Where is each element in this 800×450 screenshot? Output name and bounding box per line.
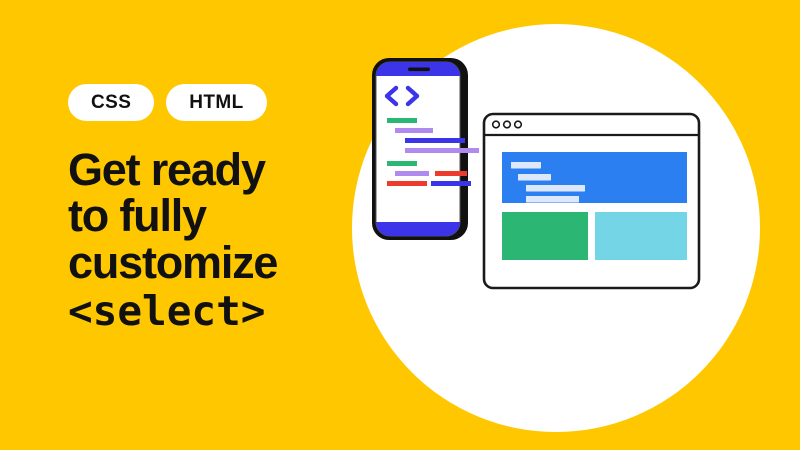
headline-line-2: to fully [68,193,368,239]
badge-css[interactable]: CSS [68,84,154,121]
phone-mockup [372,58,479,240]
browser-dot-close[interactable] [493,121,500,128]
page-title: Get ready to fully customize <select> [68,147,368,332]
hero-text-bar [518,174,551,181]
badge-row: CSS HTML [68,84,368,121]
left-content-column: CSS HTML Get ready to fully customize <s… [68,84,368,332]
code-line [431,181,471,186]
hero-text-bar [511,162,541,169]
code-line [395,171,429,176]
card-green [502,212,588,260]
hero-text-bar [526,185,585,192]
hero-text-bar [526,196,579,203]
code-line [387,118,417,123]
card-cyan [595,212,687,260]
illustration-container [350,18,770,442]
headline-code-select: <select> [68,290,368,332]
code-line [387,161,417,166]
headline-line-3: customize [68,240,368,286]
phone-speaker [408,68,430,72]
code-line [435,171,467,176]
code-line [405,138,465,143]
slide-root: CSS HTML Get ready to fully customize <s… [0,0,800,450]
phone-footer-bar [376,222,460,236]
browser-dot-minimize[interactable] [504,121,511,128]
code-line [395,128,433,133]
browser-window [484,114,699,288]
browser-dot-maximize[interactable] [515,121,522,128]
headline-line-1: Get ready [68,147,368,193]
code-line [387,181,427,186]
badge-html[interactable]: HTML [166,84,266,121]
code-line [405,148,479,153]
